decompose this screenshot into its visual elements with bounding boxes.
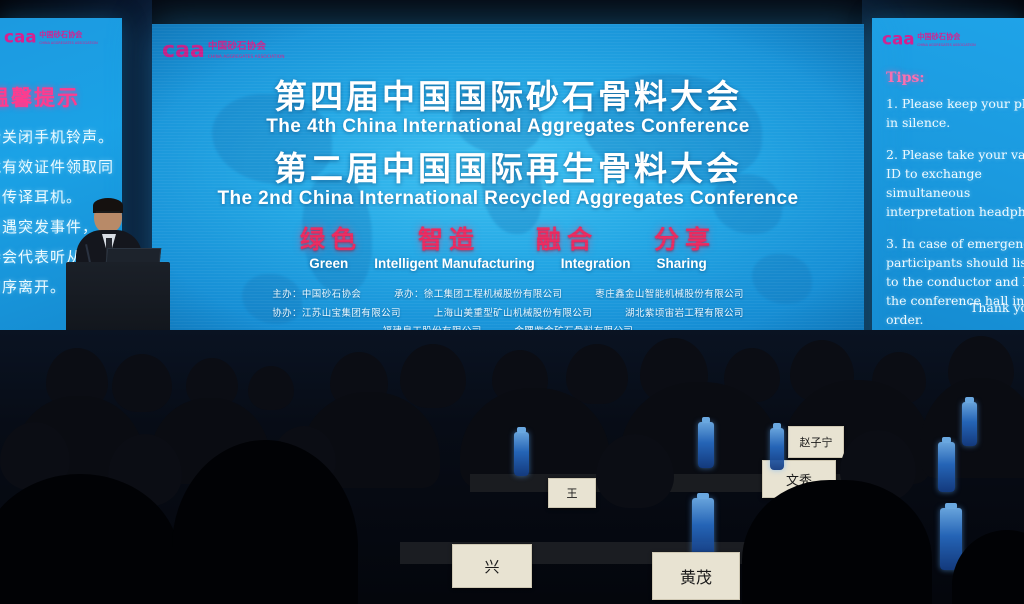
organizer-value: 徐工集团工程机械股份有限公司 <box>424 286 563 300</box>
right-tip-item: 1. Please keep your phone in silence. <box>886 94 1024 132</box>
speaker-glasses <box>96 211 120 218</box>
water-bottle <box>938 442 955 492</box>
organizer-row-1: 主办：中国砂石协会 承办：徐工集团工程机械股份有限公司 枣庄鑫金山智能机械股份有… <box>152 286 864 300</box>
svg-text:caa: caa <box>162 38 205 62</box>
organizer-value: 江苏山宝集团有限公司 <box>302 305 401 319</box>
svg-text:CHINA AGGREGATES ASSOCIATION: CHINA AGGREGATES ASSOCIATION <box>917 43 976 47</box>
organizer-row-2: 协办：江苏山宝集团有限公司 上海山美重型矿山机械股份有限公司 湖北紫顷宙岩工程有… <box>152 305 864 319</box>
conference-title-en-2: The 2nd China International Recycled Agg… <box>152 188 864 210</box>
conference-photo: caa 中国砂石协会 CHINA AGGREGATES ASSOCIATION … <box>0 0 1024 604</box>
slogan-cn: 绿色 智造 融合 分享 <box>152 220 864 256</box>
name-card: 赵子宁 <box>788 426 844 458</box>
caa-logo-left: caa 中国砂石协会 CHINA AGGREGATES ASSOCIATION <box>4 26 122 48</box>
slogan-en-word: Sharing <box>657 256 707 271</box>
slogan-en-word: Integration <box>561 256 631 271</box>
organizer-value: 中国砂石协会 <box>302 286 361 300</box>
slogan-cn-word: 分享 <box>654 220 716 256</box>
water-bottle <box>770 428 784 470</box>
svg-text:中国砂石协会: 中国砂石协会 <box>917 32 961 41</box>
caa-logo-main: caa 中国砂石协会 CHINA AGGREGATES ASSOCIATION <box>162 36 312 62</box>
slogan-cn-word: 绿色 <box>300 220 362 256</box>
svg-text:中国砂石协会: 中国砂石协会 <box>208 39 266 52</box>
left-tip-line: 请关闭手机铃声。 <box>0 122 122 152</box>
svg-text:caa: caa <box>4 27 37 47</box>
water-bottle <box>698 422 714 468</box>
organizer-value: 上海山美重型矿山机械股份有限公司 <box>434 305 592 319</box>
slogan-en-word: Green <box>309 256 348 271</box>
svg-text:中国砂石协会: 中国砂石协会 <box>39 30 83 39</box>
organizer-label: 主办： <box>272 286 302 300</box>
organizer-label: 承办： <box>394 286 424 300</box>
name-card-text: 赵子宁 <box>800 434 833 450</box>
audience-head <box>248 366 294 410</box>
caa-logo-right: caa 中国砂石协会 CHINA AGGREGATES ASSOCIATION <box>882 28 1002 50</box>
slogan-cn-word: 融合 <box>536 220 598 256</box>
water-bottle <box>514 432 529 476</box>
left-panel-title: 温馨提示 <box>0 82 122 112</box>
slogan-en-word: Intelligent Manufacturing <box>374 256 535 271</box>
name-card-text: 黄茂 <box>680 564 712 588</box>
audience-area: 赵子宁 文秀 王 兴 黄茂 <box>0 330 1024 604</box>
organizer-value: 湖北紫顷宙岩工程有限公司 <box>625 305 744 319</box>
audience-head <box>566 344 628 404</box>
water-bottle <box>692 498 714 558</box>
name-card: 黄茂 <box>652 552 740 600</box>
name-card: 兴 <box>452 544 532 588</box>
right-panel-closing: Thank you <box>970 300 1024 315</box>
audience-head <box>112 354 172 412</box>
name-card-text: 王 <box>567 485 578 501</box>
organizer-label: 协办： <box>272 305 302 319</box>
name-card: 王 <box>548 478 596 508</box>
slogan-en: Green Intelligent Manufacturing Integrat… <box>152 256 864 271</box>
organizer-value: 枣庄鑫金山智能机械股份有限公司 <box>595 286 744 300</box>
svg-text:CHINA AGGREGATES ASSOCIATION: CHINA AGGREGATES ASSOCIATION <box>39 41 98 45</box>
left-tip-line: 凭有效证件领取同 <box>0 152 122 182</box>
right-tips-panel: caa 中国砂石协会 CHINA AGGREGATES ASSOCIATION … <box>872 18 1024 348</box>
conference-title-cn-2: 第二届中国国际再生骨料大会 <box>152 142 864 190</box>
right-panel-title: Tips: <box>886 70 925 86</box>
slogan-cn-word: 智造 <box>418 220 480 256</box>
conference-title-en-1: The 4th China International Aggregates C… <box>152 116 864 138</box>
water-bottle <box>962 402 977 446</box>
right-tip-item: 2. Please take your valid ID to exchange… <box>886 145 1024 221</box>
conference-title-cn-1: 第四届中国国际砂石骨料大会 <box>152 70 864 118</box>
svg-text:caa: caa <box>882 29 915 49</box>
name-card-text: 兴 <box>484 556 499 577</box>
svg-text:CHINA AGGREGATES ASSOCIATION: CHINA AGGREGATES ASSOCIATION <box>208 54 285 60</box>
